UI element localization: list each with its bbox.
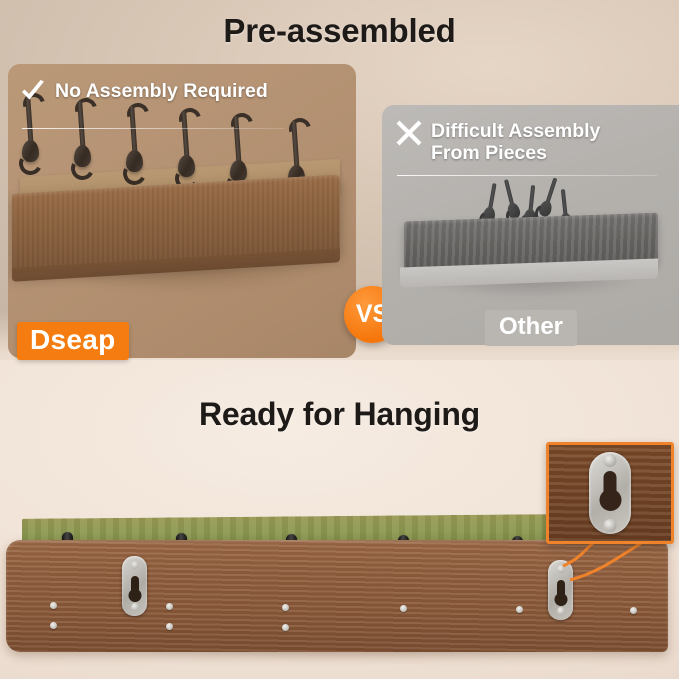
keyhole-hanger — [122, 556, 147, 616]
comparison-panel-dseap — [8, 64, 356, 358]
keyhole-magnified-inset — [546, 442, 674, 544]
screw — [516, 606, 523, 613]
x-icon — [396, 120, 422, 146]
dseap-headline: No Assembly Required — [55, 80, 268, 102]
magnified-screw-bottom — [604, 519, 617, 532]
dseap-header-divider — [22, 128, 284, 129]
brand-badge-dseap: Dseap — [17, 322, 129, 360]
panel-tint-overlay — [8, 64, 356, 358]
screw — [166, 603, 173, 610]
other-headline-line1: Difficult Assembly — [431, 120, 600, 142]
check-icon — [20, 80, 46, 104]
screw — [50, 602, 57, 609]
dseap-panel-header: No Assembly Required — [20, 80, 268, 104]
screw — [282, 624, 289, 631]
section-title-pre-assembled: Pre-assembled — [0, 12, 679, 50]
other-headline-line2: From Pieces — [431, 142, 547, 164]
other-headline: Difficult Assembly From Pieces — [431, 120, 600, 164]
other-header-divider — [397, 175, 657, 176]
infographic-stage: Pre-assembled No Assembly Required Dseap — [0, 0, 679, 679]
dseap-product-photo — [8, 64, 356, 358]
screw — [166, 623, 173, 630]
other-panel-header: Difficult Assembly From Pieces — [396, 120, 600, 164]
screw — [630, 607, 637, 614]
magnified-screw-top — [604, 454, 617, 467]
screw — [400, 605, 407, 612]
screw — [282, 604, 289, 611]
label-badge-other: Other — [485, 310, 577, 346]
keyhole-hanger — [548, 560, 573, 620]
magnified-keyhole-slot — [604, 471, 617, 507]
section-title-ready-for-hanging: Ready for Hanging — [0, 396, 679, 433]
screw — [50, 622, 57, 629]
